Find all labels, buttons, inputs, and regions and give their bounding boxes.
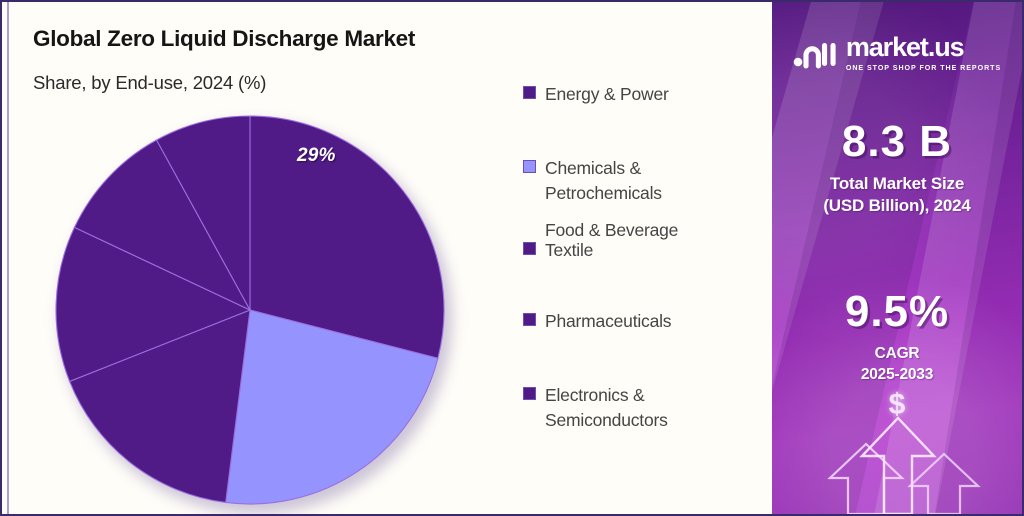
logo-wordmark: market.us <box>846 34 964 61</box>
legend-item[interactable]: Textile <box>523 238 593 263</box>
up-arrow-center-icon <box>862 418 934 514</box>
cagr-value: 9.5% <box>772 290 1022 334</box>
legend-label: Energy & Power <box>545 82 669 107</box>
pie-chart: 29% <box>54 114 446 506</box>
legend-item[interactable]: Pharmaceuticals <box>523 309 671 334</box>
up-arrow-left-icon <box>830 444 902 514</box>
pie-chart-svg <box>54 114 446 506</box>
page-title: Global Zero Liquid Discharge Market <box>33 26 415 52</box>
legend-swatch <box>523 160 536 173</box>
stat-total-market-size: 8.3 B Total Market Size (USD Billion), 2… <box>772 120 1022 217</box>
pie-slice-group <box>56 116 444 504</box>
legend-item[interactable]: Chemicals & Petrochemicals <box>523 156 662 206</box>
brand-panel: market.us ONE STOP SHOP FOR THE REPORTS … <box>772 0 1024 516</box>
legend-swatch <box>523 242 536 255</box>
chart-panel: Global Zero Liquid Discharge Market Shar… <box>0 0 772 516</box>
dollar-sign-icon: $ <box>772 388 1022 422</box>
legend-swatch <box>523 313 536 326</box>
legend-item[interactable]: Energy & Power <box>523 82 669 107</box>
page-subtitle: Share, by End-use, 2024 (%) <box>33 72 266 94</box>
growth-arrows-graphic: $ <box>772 374 1022 514</box>
market-infographic: Global Zero Liquid Discharge Market Shar… <box>0 0 1024 516</box>
market-size-caption: Total Market Size (USD Billion), 2024 <box>772 173 1022 217</box>
logo-mark-icon <box>793 36 837 70</box>
up-arrow-right-icon <box>910 454 978 514</box>
legend-item[interactable]: Electronics & Semiconductors <box>523 383 668 433</box>
legend-label: Chemicals & Petrochemicals <box>545 156 662 206</box>
legend-swatch <box>523 86 536 99</box>
stat-cagr: 9.5% CAGR 2025-2033 <box>772 290 1022 385</box>
legend-label: Electronics & Semiconductors <box>545 383 668 433</box>
pie-data-label-energy-power: 29% <box>297 145 336 167</box>
market-size-value: 8.3 B <box>772 120 1022 164</box>
logo-tagline: ONE STOP SHOP FOR THE REPORTS <box>846 64 1001 72</box>
logo-text-group: market.us ONE STOP SHOP FOR THE REPORTS <box>846 34 1001 72</box>
legend-label: Pharmaceuticals <box>545 309 671 334</box>
market-us-logo: market.us ONE STOP SHOP FOR THE REPORTS <box>772 34 1022 72</box>
legend-swatch <box>523 387 536 400</box>
legend-label: Textile <box>545 238 593 263</box>
